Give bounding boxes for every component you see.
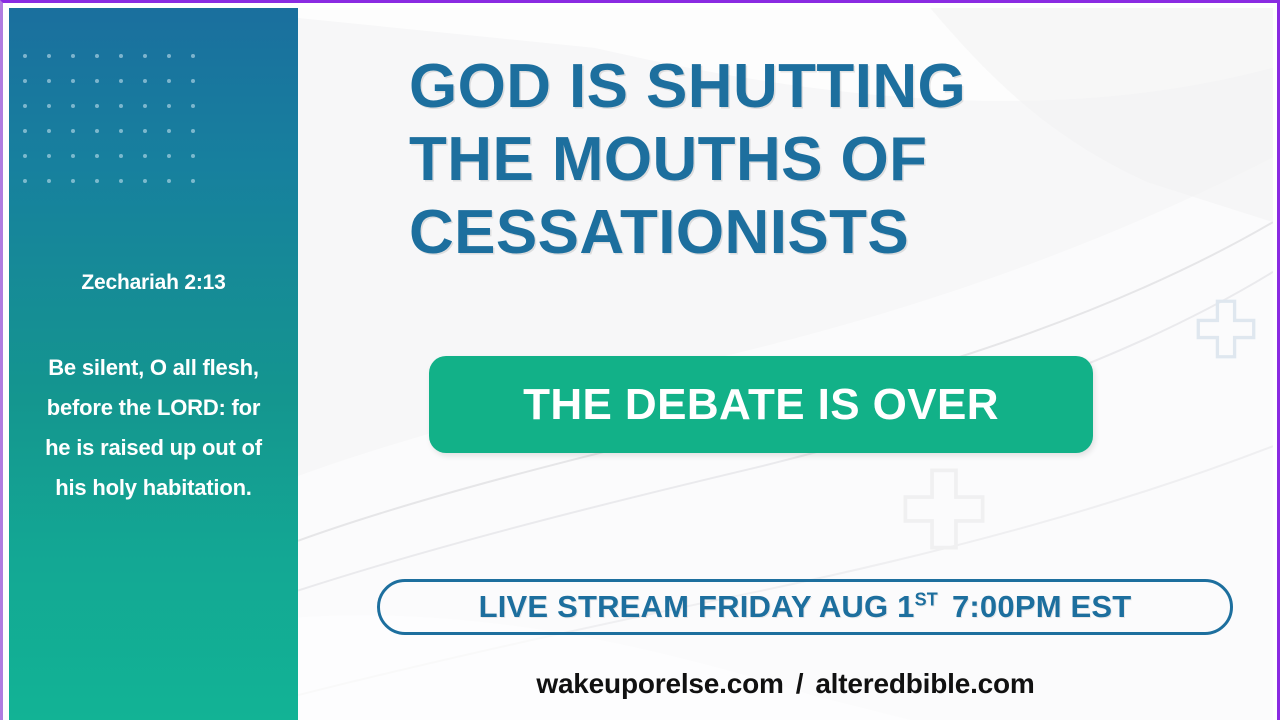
- plus-icon: [898, 463, 990, 555]
- poster-inner: Zechariah 2:13 Be silent, O all flesh, b…: [9, 8, 1273, 720]
- debate-is-over-button[interactable]: THE DEBATE IS OVER: [429, 356, 1093, 453]
- pattern-dot: [119, 79, 123, 83]
- poster-frame: Zechariah 2:13 Be silent, O all flesh, b…: [0, 0, 1280, 720]
- dot-grid-pattern: [23, 54, 203, 194]
- pattern-dot: [23, 129, 27, 133]
- pattern-dot: [191, 54, 195, 58]
- pattern-dot: [95, 129, 99, 133]
- pattern-dot: [191, 129, 195, 133]
- pattern-dot: [95, 104, 99, 108]
- live-stream-lead: LIVE STREAM FRIDAY AUG 1: [479, 589, 915, 624]
- website-link-primary[interactable]: wakeuporelse.com: [536, 668, 783, 699]
- pattern-dot: [47, 79, 51, 83]
- pattern-dot: [119, 104, 123, 108]
- pattern-dot: [119, 154, 123, 158]
- website-links-row: wakeuporelse.com/alteredbible.com: [298, 668, 1273, 700]
- pattern-dot: [23, 154, 27, 158]
- pattern-dot: [95, 79, 99, 83]
- live-stream-time: 7:00PM EST: [952, 589, 1131, 624]
- pattern-dot: [143, 54, 147, 58]
- pattern-dot: [143, 129, 147, 133]
- pattern-dot: [119, 179, 123, 183]
- pattern-dot: [47, 104, 51, 108]
- main-content: GOD IS SHUTTING THE MOUTHS OF CESSATIONI…: [298, 8, 1273, 720]
- pattern-dot: [191, 79, 195, 83]
- pattern-dot: [167, 54, 171, 58]
- pattern-dot: [143, 104, 147, 108]
- headline-line-2: THE MOUTHS OF: [409, 123, 1169, 196]
- pattern-dot: [167, 79, 171, 83]
- pattern-dot: [71, 54, 75, 58]
- pattern-dot: [47, 179, 51, 183]
- pattern-dot: [191, 179, 195, 183]
- pattern-dot: [119, 129, 123, 133]
- pattern-dot: [23, 179, 27, 183]
- live-stream-banner[interactable]: LIVE STREAM FRIDAY AUG 1ST7:00PM EST: [377, 579, 1233, 635]
- pattern-dot: [167, 129, 171, 133]
- pattern-dot: [47, 154, 51, 158]
- page-title: GOD IS SHUTTING THE MOUTHS OF CESSATIONI…: [409, 50, 1169, 269]
- verse-text: Be silent, O all flesh, before the LORD:…: [31, 348, 276, 508]
- cta-button-label: THE DEBATE IS OVER: [523, 380, 999, 430]
- verse-reference: Zechariah 2:13: [31, 270, 276, 295]
- website-link-secondary[interactable]: alteredbible.com: [815, 668, 1034, 699]
- scripture-block: Zechariah 2:13 Be silent, O all flesh, b…: [9, 270, 298, 508]
- pattern-dot: [23, 104, 27, 108]
- pattern-dot: [143, 154, 147, 158]
- live-stream-label: LIVE STREAM FRIDAY AUG 1ST7:00PM EST: [479, 589, 1132, 625]
- pattern-dot: [167, 179, 171, 183]
- pattern-dot: [167, 154, 171, 158]
- pattern-dot: [71, 179, 75, 183]
- pattern-dot: [23, 54, 27, 58]
- pattern-dot: [191, 154, 195, 158]
- ordinal-suffix: ST: [915, 590, 938, 610]
- pattern-dot: [71, 129, 75, 133]
- pattern-dot: [143, 179, 147, 183]
- pattern-dot: [23, 79, 27, 83]
- pattern-dot: [191, 104, 195, 108]
- sidebar: Zechariah 2:13 Be silent, O all flesh, b…: [9, 8, 298, 720]
- pattern-dot: [71, 154, 75, 158]
- pattern-dot: [71, 79, 75, 83]
- plus-icon: [1193, 296, 1259, 362]
- pattern-dot: [95, 154, 99, 158]
- pattern-dot: [47, 129, 51, 133]
- headline-line-3: CESSATIONISTS: [409, 196, 1169, 269]
- website-separator: /: [796, 668, 804, 699]
- headline-line-1: GOD IS SHUTTING: [409, 50, 1169, 123]
- pattern-dot: [71, 104, 75, 108]
- pattern-dot: [143, 79, 147, 83]
- pattern-dot: [167, 104, 171, 108]
- pattern-dot: [95, 54, 99, 58]
- pattern-dot: [47, 54, 51, 58]
- pattern-dot: [119, 54, 123, 58]
- pattern-dot: [95, 179, 99, 183]
